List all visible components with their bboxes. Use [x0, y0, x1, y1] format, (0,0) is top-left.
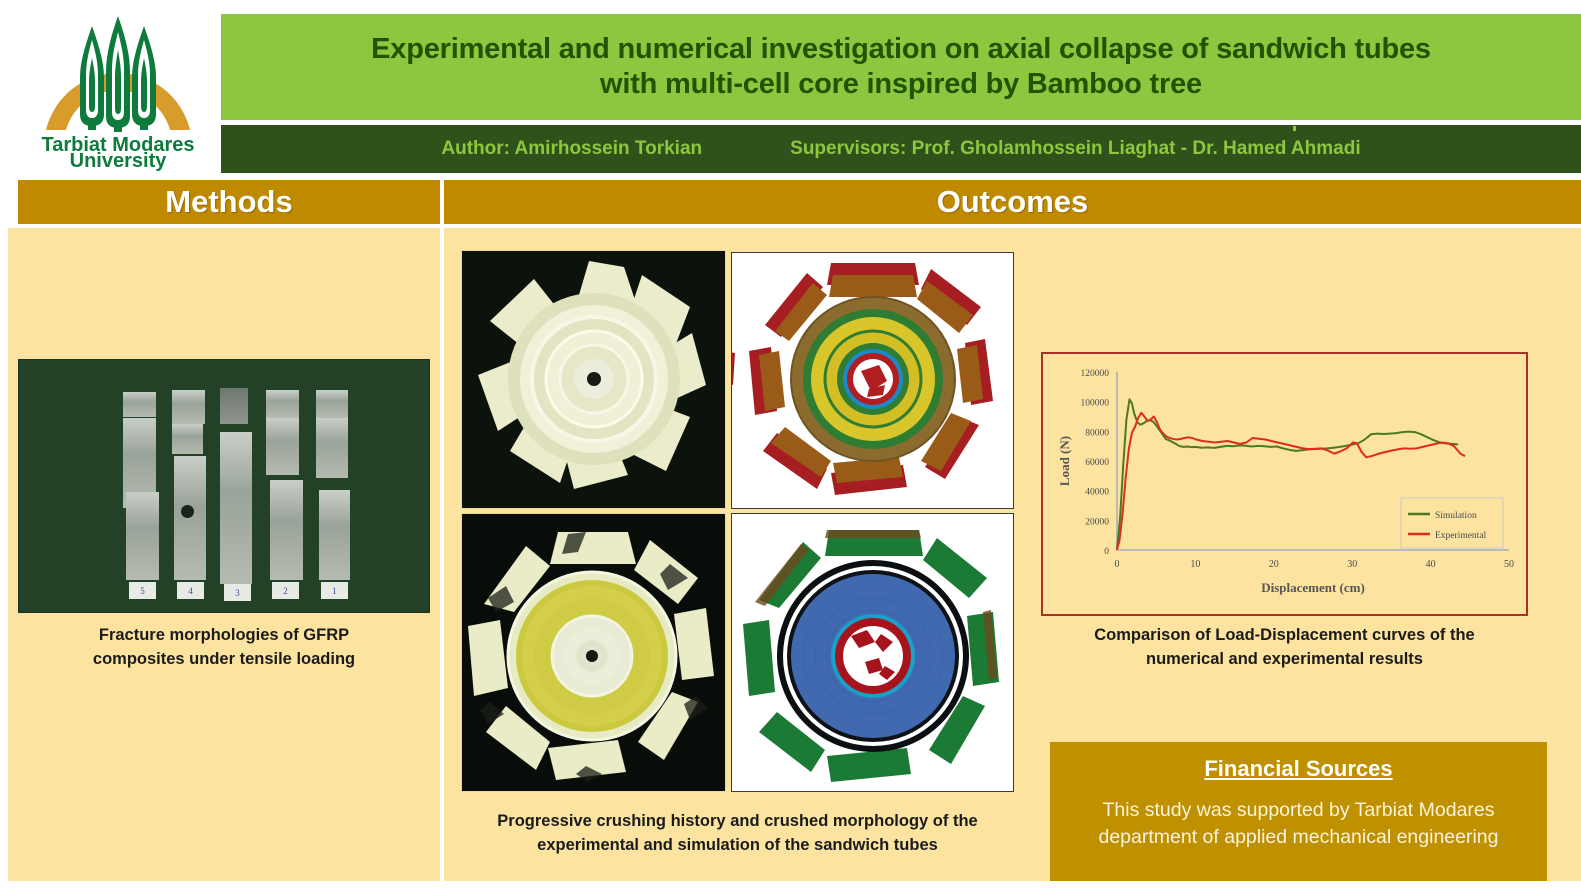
outcomes-caption-line2: experimental and simulation of the sandw…	[537, 836, 938, 854]
simulation-crushed-tube-core-view	[731, 513, 1014, 792]
outcomes-figure-caption: Progressive crushing history and crushed…	[461, 810, 1014, 858]
tarbiat-modares-university-logo-icon: Tarbiat Modares University	[18, 6, 218, 171]
chart-ytick: 0	[1104, 547, 1109, 557]
chart-ylabel: Load (N)	[1057, 436, 1072, 486]
chart-xtick: 10	[1190, 559, 1200, 570]
logo-line2: University	[70, 150, 168, 171]
specimen-label-2: 2	[272, 582, 299, 599]
section-title-methods: Methods	[165, 184, 292, 220]
experimental-crushed-tube-core-view-graphic	[462, 514, 726, 792]
chart-ytick: 100000	[1081, 399, 1110, 409]
author-bar: Author: Amirhossein Torkian Supervisors:…	[221, 125, 1581, 173]
methods-caption-line2: composites under tensile loading	[93, 650, 355, 668]
methods-caption-line1: Fracture morphologies of GFRP	[99, 626, 349, 644]
chart-caption-line2: numerical and experimental results	[1146, 650, 1423, 668]
load-displacement-chart-svg: 0200004000060000800001000001200000102030…	[1043, 354, 1526, 614]
outcomes-caption-line1: Progressive crushing history and crushed…	[497, 812, 977, 830]
chart-ytick: 40000	[1085, 488, 1109, 498]
chart-xtick: 30	[1347, 559, 1357, 570]
university-logo: Tarbiat Modares University	[18, 6, 218, 171]
financial-sources-body: This study was supported by Tarbiat Moda…	[1050, 797, 1547, 852]
chart-xtick: 40	[1426, 559, 1436, 570]
page-title-line2: with multi-cell core inspired by Bamboo …	[600, 68, 1202, 100]
poster-root: Tarbiat Modares University Experimental …	[0, 0, 1581, 893]
chart-caption-line1: Comparison of Load-Displacement curves o…	[1094, 626, 1474, 644]
financial-body-line2: department of applied mechanical enginee…	[1098, 826, 1498, 848]
specimen-label-1: 1	[321, 582, 348, 599]
specimen-label-3: 3	[224, 584, 251, 601]
chart-xtick: 0	[1115, 559, 1120, 570]
page-title-line1: Experimental and numerical investigation…	[371, 33, 1431, 65]
decorative-dot	[1293, 126, 1296, 131]
chart-legend-experimental: Experimental	[1435, 531, 1487, 541]
experimental-crushed-tube-top-view-graphic	[462, 251, 726, 509]
chart-legend-simulation: Simulation	[1435, 511, 1477, 521]
poster-header: Tarbiat Modares University Experimental …	[0, 0, 1581, 176]
chart-xlabel: Displacement (cm)	[1261, 580, 1365, 595]
author-label: Author: Amirhossein Torkian	[441, 138, 702, 160]
section-header-methods: Methods	[18, 180, 440, 224]
section-title-outcomes: Outcomes	[937, 184, 1089, 220]
poster-title-bar: Experimental and numerical investigation…	[221, 14, 1581, 120]
chart-ytick: 120000	[1081, 369, 1110, 379]
load-displacement-chart: 0200004000060000800001000001200000102030…	[1041, 352, 1528, 616]
page-title: Experimental and numerical investigation…	[347, 32, 1455, 103]
chart-xtick: 50	[1504, 559, 1514, 570]
section-header-outcomes: Outcomes	[444, 180, 1581, 224]
chart-ytick: 20000	[1085, 517, 1109, 527]
financial-body-line1: This study was supported by Tarbiat Moda…	[1103, 799, 1495, 821]
simulation-crushed-tube-core-view-graphic	[732, 514, 1014, 792]
financial-sources-box: Financial Sources This study was support…	[1050, 742, 1547, 881]
chart-caption: Comparison of Load-Displacement curves o…	[1041, 624, 1528, 672]
specimen-label-4: 4	[177, 582, 204, 599]
experimental-crushed-tube-top-view	[461, 250, 726, 509]
specimen-label-5: 5	[129, 582, 156, 599]
simulation-crushed-tube-top-view	[731, 252, 1014, 509]
gfrp-specimen-photo: 5 4 3 2 1	[18, 359, 430, 613]
chart-ytick: 60000	[1085, 458, 1109, 468]
chart-ytick: 80000	[1085, 428, 1109, 438]
financial-sources-title: Financial Sources	[1050, 756, 1547, 782]
supervisors-label: Supervisors: Prof. Gholamhossein Liaghat…	[790, 138, 1360, 160]
simulation-crushed-tube-top-view-graphic	[732, 253, 1014, 509]
experimental-crushed-tube-core-view	[461, 513, 726, 792]
chart-xtick: 20	[1269, 559, 1279, 570]
methods-figure-caption: Fracture morphologies of GFRP composites…	[18, 624, 430, 672]
